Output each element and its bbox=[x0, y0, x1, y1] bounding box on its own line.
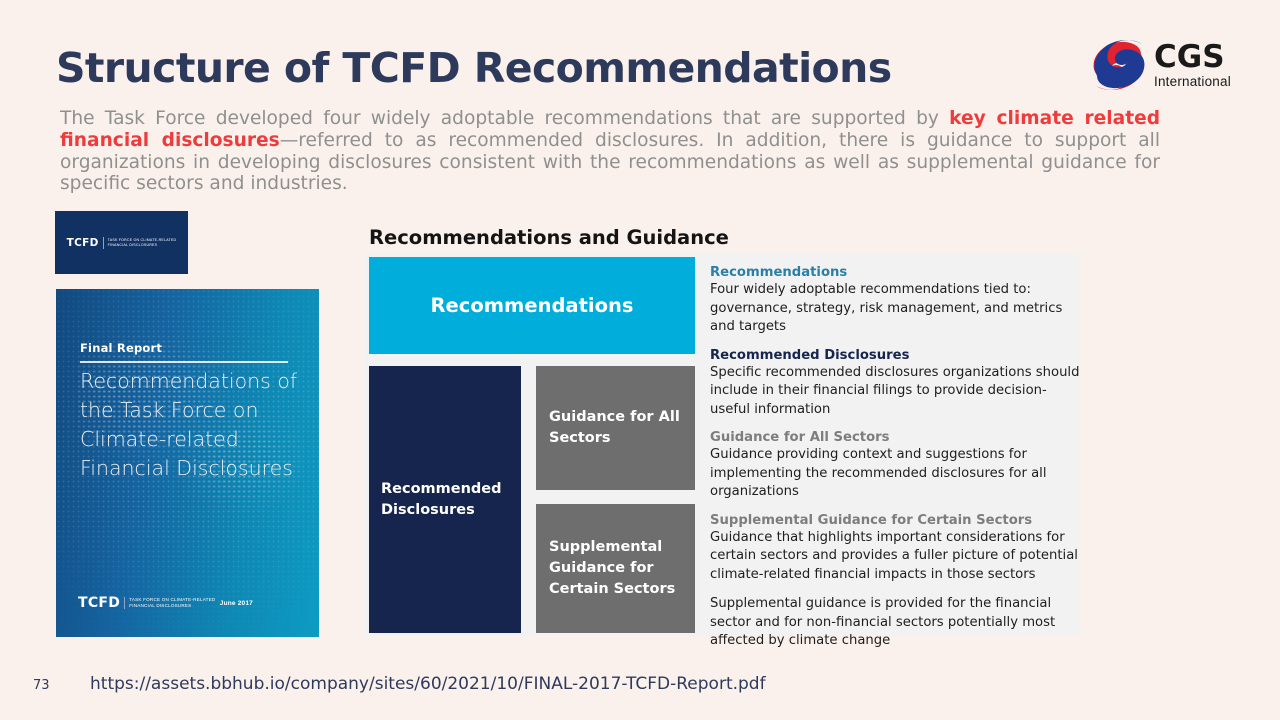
intro-part-1: The Task Force developed four widely ado… bbox=[60, 108, 949, 129]
page-title: Structure of TCFD Recommendations bbox=[56, 44, 892, 92]
description-guidance-all-sectors: Guidance for All Sectors Guidance provid… bbox=[710, 430, 1080, 502]
cover-title: Recommendations of the Task Force on Cli… bbox=[80, 367, 310, 483]
cgs-logo: CGS International bbox=[1090, 36, 1258, 94]
box-guidance-for-all-sectors: Guidance for All Sectors bbox=[536, 366, 695, 490]
diagram-heading: Recommendations and Guidance bbox=[369, 226, 729, 249]
cover-tcfd-divider bbox=[124, 597, 125, 609]
description-recommendations-body: Four widely adoptable recommendations ti… bbox=[710, 281, 1080, 337]
cover-footer: TCFD TASK FORCE ON CLIMATE-RELATED FINAN… bbox=[78, 595, 301, 611]
description-recommended-disclosures: Recommended Disclosures Specific recomme… bbox=[710, 348, 1080, 420]
description-supplemental-guidance: Supplemental Guidance for Certain Sector… bbox=[710, 513, 1080, 651]
description-supplemental-guidance-body: Guidance that highlights important consi… bbox=[710, 529, 1080, 585]
box-supplemental-guidance: Supplemental Guidance for Certain Sector… bbox=[536, 504, 695, 633]
cover-tcfd-tagline-line1: TASK FORCE ON CLIMATE-RELATED bbox=[129, 597, 215, 602]
cover-kicker: Final Report bbox=[80, 341, 162, 355]
description-recommendations-heading: Recommendations bbox=[710, 265, 1080, 280]
description-supplemental-guidance-body-2: Supplemental guidance is provided for th… bbox=[710, 595, 1080, 651]
tcfd-wordmark: TCFD bbox=[67, 237, 99, 249]
description-supplemental-guidance-heading: Supplemental Guidance for Certain Sector… bbox=[710, 513, 1080, 528]
intro-paragraph: The Task Force developed four widely ado… bbox=[60, 108, 1160, 195]
cover-tcfd-tagline: TASK FORCE ON CLIMATE-RELATED FINANCIAL … bbox=[129, 597, 215, 608]
cover-tcfd-wordmark: TCFD bbox=[78, 595, 120, 611]
box-recommended-disclosures: Recommended Disclosures bbox=[369, 366, 521, 633]
diagram-descriptions: Recommendations Four widely adoptable re… bbox=[710, 265, 1080, 662]
description-guidance-all-sectors-body: Guidance providing context and suggestio… bbox=[710, 446, 1080, 502]
logo-brand-text: CGS bbox=[1154, 42, 1231, 73]
logo-subtitle-text: International bbox=[1154, 75, 1231, 89]
description-recommended-disclosures-body: Specific recommended disclosures organiz… bbox=[710, 364, 1080, 420]
page-number: 73 bbox=[33, 678, 50, 693]
tcfd-report-cover-image: Final Report Recommendations of the Task… bbox=[56, 289, 319, 637]
tcfd-tagline-line2: FINANCIAL DISCLOSURES bbox=[108, 243, 158, 247]
tcfd-tagline: TASK FORCE ON CLIMATE-RELATED FINANCIAL … bbox=[108, 238, 177, 247]
cover-date: June 2017 bbox=[220, 600, 301, 607]
tcfd-tagline-line1: TASK FORCE ON CLIMATE-RELATED bbox=[108, 238, 177, 242]
description-recommended-disclosures-heading: Recommended Disclosures bbox=[710, 348, 1080, 363]
source-url[interactable]: https://assets.bbhub.io/company/sites/60… bbox=[90, 674, 766, 694]
tcfd-logo-badge: TCFD TASK FORCE ON CLIMATE-RELATED FINAN… bbox=[55, 211, 188, 274]
description-recommendations: Recommendations Four widely adoptable re… bbox=[710, 265, 1080, 337]
description-guidance-all-sectors-heading: Guidance for All Sectors bbox=[710, 430, 1080, 445]
box-recommendations: Recommendations bbox=[369, 257, 695, 354]
cgs-swirl-icon bbox=[1090, 39, 1148, 91]
cover-divider bbox=[80, 361, 288, 363]
cover-tcfd-tagline-line2: FINANCIAL DISCLOSURES bbox=[129, 603, 191, 608]
tcfd-divider bbox=[103, 237, 104, 249]
